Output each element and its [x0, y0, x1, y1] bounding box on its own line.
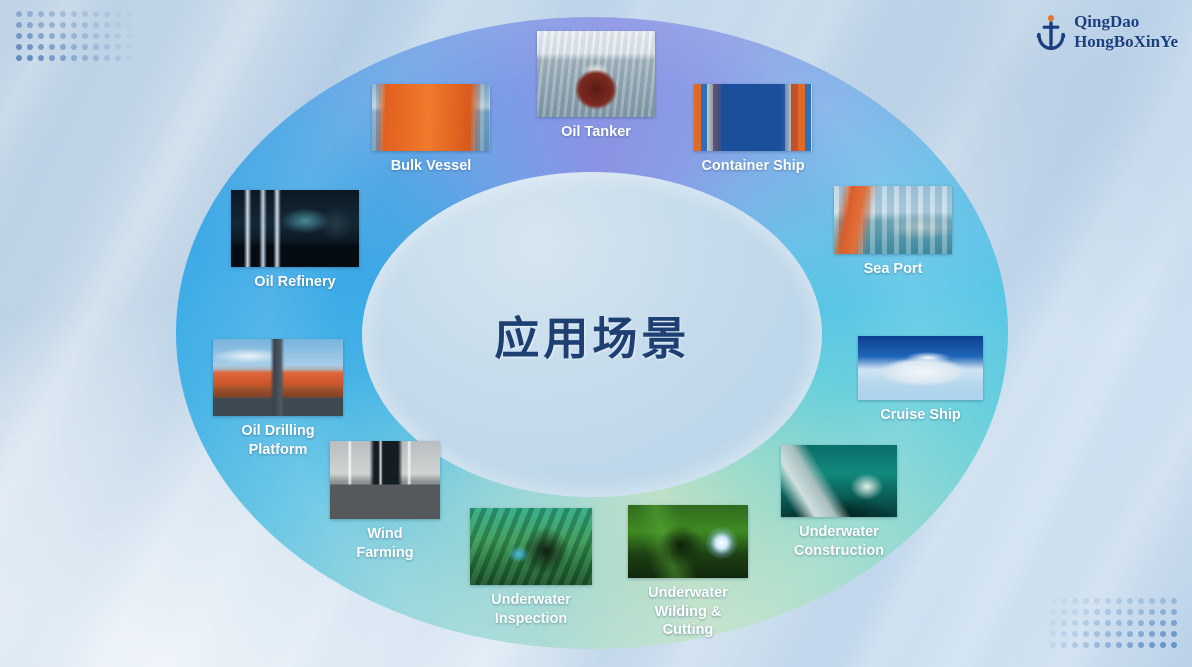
dot [1072, 598, 1078, 604]
dot [1138, 609, 1144, 615]
dot [1105, 609, 1111, 615]
dot [38, 11, 44, 17]
dot [71, 33, 77, 39]
dot [1149, 631, 1155, 637]
dot [71, 44, 77, 50]
dot [1160, 620, 1166, 626]
dot [60, 11, 66, 17]
company-logo: QingDao HongBoXinYe [1036, 12, 1178, 52]
bulk-vessel-photo [372, 84, 490, 151]
dot [93, 33, 99, 39]
dot [126, 55, 132, 61]
dot [1149, 598, 1155, 604]
dot [1050, 609, 1056, 615]
dot [93, 44, 99, 50]
dot [126, 44, 132, 50]
oil-tanker-photo [537, 31, 655, 117]
dot [1171, 642, 1177, 648]
dot [1171, 620, 1177, 626]
scenario-node-underwater-inspection[interactable]: Underwater Inspection [470, 508, 592, 628]
dot [1160, 598, 1166, 604]
dot [82, 11, 88, 17]
dot [1105, 631, 1111, 637]
dot [1127, 631, 1133, 637]
scenario-node-underwater-welding[interactable]: Underwater Wilding & Cutting [628, 505, 748, 640]
dot [27, 44, 33, 50]
dot [1127, 609, 1133, 615]
dot [1072, 642, 1078, 648]
scenario-label-cruise-ship: Cruise Ship [880, 406, 961, 425]
dot [104, 11, 110, 17]
dot [126, 22, 132, 28]
scenario-label-underwater-welding: Underwater Wilding & Cutting [628, 584, 748, 640]
wind-farming-photo [330, 441, 440, 519]
dot [93, 11, 99, 17]
underwater-construction-photo [781, 445, 897, 517]
logo-text-block: QingDao HongBoXinYe [1074, 12, 1178, 52]
dot [38, 44, 44, 50]
scenario-node-cruise-ship[interactable]: Cruise Ship [858, 336, 983, 425]
dot [27, 22, 33, 28]
dot [1050, 620, 1056, 626]
dot [104, 33, 110, 39]
dot [60, 44, 66, 50]
dot [71, 11, 77, 17]
scenario-node-container-ship[interactable]: Container Ship [694, 84, 812, 176]
dot [115, 44, 121, 50]
dot [49, 33, 55, 39]
dot [1061, 598, 1067, 604]
dot [115, 55, 121, 61]
dot [104, 44, 110, 50]
dot [1072, 609, 1078, 615]
dot [27, 55, 33, 61]
dot [49, 44, 55, 50]
scenario-node-oil-tanker[interactable]: Oil Tanker [537, 31, 655, 142]
dot [1094, 620, 1100, 626]
dot [1083, 620, 1089, 626]
dot [1094, 631, 1100, 637]
dot [60, 22, 66, 28]
dot [1083, 642, 1089, 648]
dot [60, 33, 66, 39]
scenario-node-wind-farming[interactable]: Wind Farming [330, 441, 440, 562]
dot [1160, 642, 1166, 648]
scenario-label-oil-tanker: Oil Tanker [561, 123, 631, 142]
dot [1116, 620, 1122, 626]
dot [1072, 631, 1078, 637]
dot [49, 11, 55, 17]
dot [1171, 598, 1177, 604]
cruise-ship-photo [858, 336, 983, 400]
dot [115, 22, 121, 28]
dot [49, 22, 55, 28]
dot [93, 22, 99, 28]
scenario-label-underwater-construction: Underwater Construction [794, 523, 884, 560]
dot-grid-bottom-right-decoration [1048, 596, 1180, 651]
container-ship-photo [694, 84, 812, 151]
scenario-node-bulk-vessel[interactable]: Bulk Vessel [372, 84, 490, 176]
scenario-node-underwater-construction[interactable]: Underwater Construction [781, 445, 897, 560]
dot [82, 44, 88, 50]
scenario-node-oil-drilling-platform[interactable]: Oil Drilling Platform [213, 339, 343, 459]
dot [16, 44, 22, 50]
dot [1094, 598, 1100, 604]
oil-drilling-platform-photo [213, 339, 343, 416]
dot [1127, 642, 1133, 648]
anchor-icon [1036, 14, 1066, 50]
dot [71, 22, 77, 28]
dot [16, 33, 22, 39]
dot [1160, 631, 1166, 637]
dot [1160, 609, 1166, 615]
dot [126, 11, 132, 17]
dot [1061, 609, 1067, 615]
scenario-label-sea-port: Sea Port [864, 260, 923, 279]
dot [16, 55, 22, 61]
scenario-label-bulk-vessel: Bulk Vessel [391, 157, 472, 176]
dot [16, 22, 22, 28]
dot [1138, 642, 1144, 648]
dot [1127, 598, 1133, 604]
logo-line-2: HongBoXinYe [1074, 32, 1178, 52]
dot [38, 22, 44, 28]
dot [1061, 620, 1067, 626]
scenario-node-oil-refinery[interactable]: Oil Refinery [231, 190, 359, 292]
dot [1127, 620, 1133, 626]
oil-refinery-photo [231, 190, 359, 267]
logo-line-1: QingDao [1074, 12, 1178, 32]
underwater-inspection-photo [470, 508, 592, 585]
scenario-node-sea-port[interactable]: Sea Port [834, 186, 952, 279]
dot [104, 22, 110, 28]
dot [1094, 609, 1100, 615]
dot [1105, 598, 1111, 604]
dot [115, 11, 121, 17]
dot [1072, 620, 1078, 626]
dot [1050, 631, 1056, 637]
dot [27, 11, 33, 17]
dot [82, 33, 88, 39]
dot [1061, 642, 1067, 648]
dot [115, 33, 121, 39]
dot [82, 22, 88, 28]
scenario-label-underwater-inspection: Underwater Inspection [491, 591, 571, 628]
dot [1138, 620, 1144, 626]
slide-canvas: 应用场景 Oil TankerBulk VesselContainer Ship… [0, 0, 1192, 667]
dot [1050, 642, 1056, 648]
dot [1094, 642, 1100, 648]
dot [16, 11, 22, 17]
scenario-label-container-ship: Container Ship [701, 157, 804, 176]
dot [27, 33, 33, 39]
dot [1116, 609, 1122, 615]
dot [1138, 598, 1144, 604]
dot [1116, 598, 1122, 604]
dot [38, 33, 44, 39]
dot [1105, 620, 1111, 626]
dot [93, 55, 99, 61]
dot [1171, 609, 1177, 615]
dot [104, 55, 110, 61]
dot [1083, 598, 1089, 604]
scenario-label-wind-farming: Wind Farming [356, 525, 413, 562]
scenario-label-oil-refinery: Oil Refinery [254, 273, 335, 292]
dot [1171, 631, 1177, 637]
underwater-welding-photo [628, 505, 748, 578]
dot [60, 55, 66, 61]
dot [1149, 609, 1155, 615]
dot [1116, 631, 1122, 637]
dot [1050, 598, 1056, 604]
dot [1149, 642, 1155, 648]
dot [126, 33, 132, 39]
sea-port-photo [834, 186, 952, 254]
dot [82, 55, 88, 61]
scenario-label-oil-drilling-platform: Oil Drilling Platform [241, 422, 314, 459]
dot [1105, 642, 1111, 648]
dot [1083, 609, 1089, 615]
dot [1083, 631, 1089, 637]
dot [38, 55, 44, 61]
dot [49, 55, 55, 61]
dot [1138, 631, 1144, 637]
dot [1116, 642, 1122, 648]
dot [71, 55, 77, 61]
dot-grid-top-left-decoration [14, 9, 135, 64]
dot [1149, 620, 1155, 626]
dot [1061, 631, 1067, 637]
